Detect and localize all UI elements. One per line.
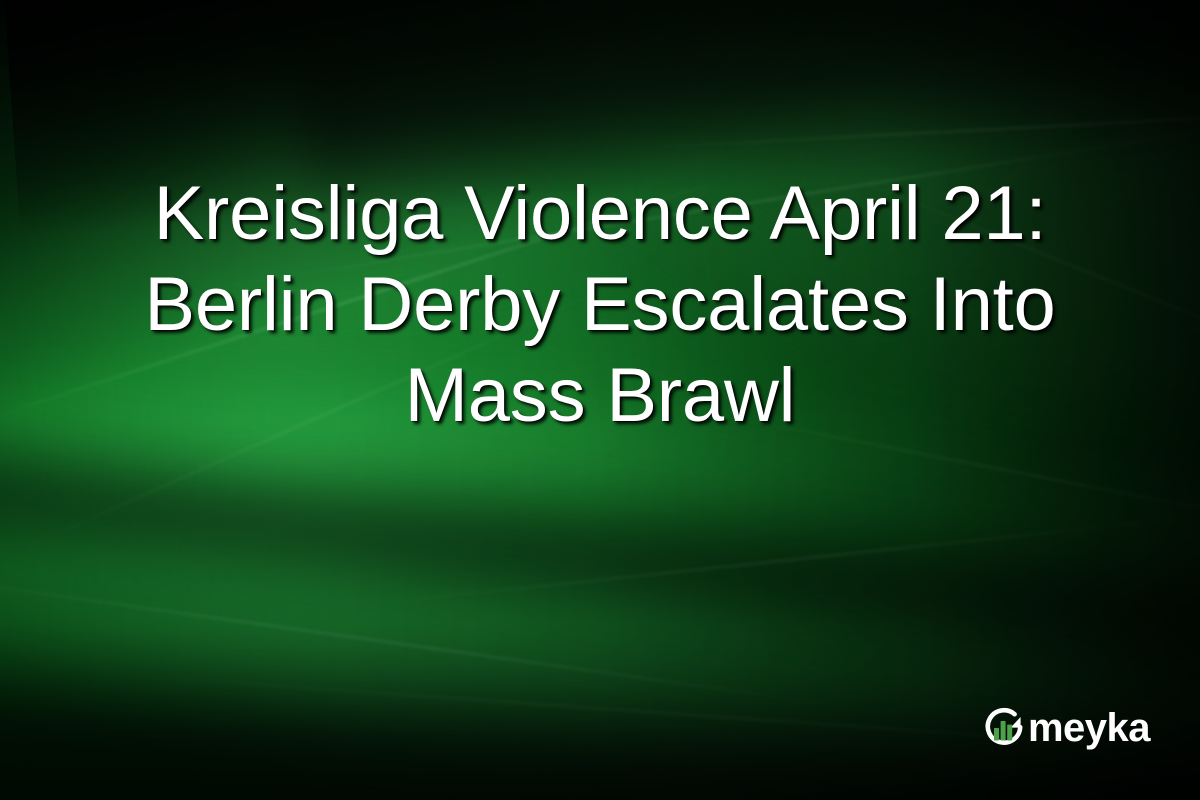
brand-name: meyka [1028, 708, 1150, 748]
page-title-line-2: Berlin Derby Escalates Into [60, 259, 1140, 350]
share-card-canvas: Kreisliga Violence April 21: Berlin Derb… [0, 0, 1200, 800]
page-title-line-1: Kreisliga Violence April 21: [60, 168, 1140, 259]
brand-logo[interactable]: meyka [980, 704, 1150, 752]
page-title-line-3: Mass Brawl [60, 350, 1140, 441]
circular-arrow-bar-chart-icon [980, 704, 1028, 752]
page-title: Kreisliga Violence April 21: Berlin Derb… [60, 168, 1140, 441]
